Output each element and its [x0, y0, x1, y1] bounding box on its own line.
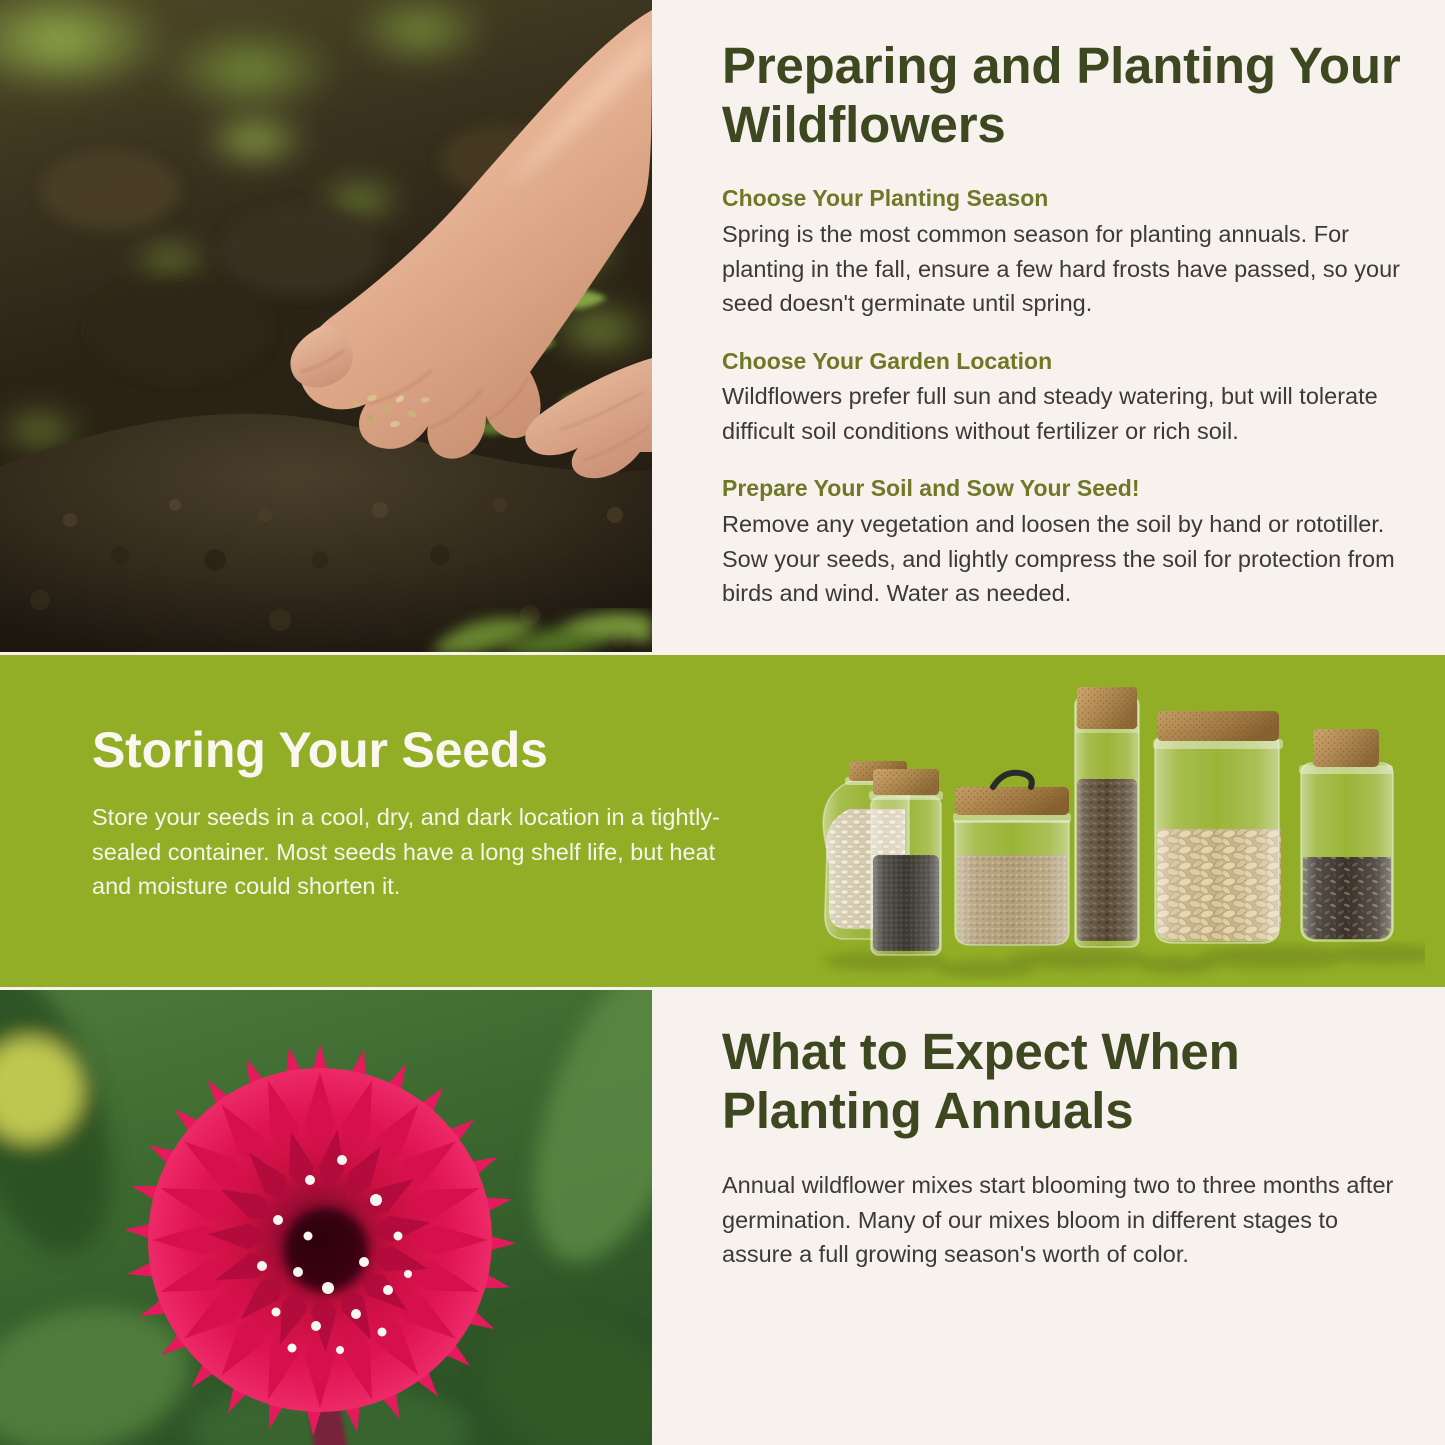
seed-jars-illustration — [805, 669, 1425, 987]
infographic-page: Preparing and Planting Your Wildflowers … — [0, 0, 1445, 1445]
seed-jars-photo — [805, 669, 1425, 987]
section-storing-your-seeds: Storing Your Seeds Store your seeds in a… — [0, 655, 1445, 987]
page-title-preparing: Preparing and Planting Your Wildflowers — [722, 36, 1412, 154]
body-prepare-soil: Remove any vegetation and loosen the soi… — [722, 507, 1412, 611]
body-expect: Annual wildflower mixes start blooming t… — [722, 1168, 1412, 1272]
block-prepare-soil: Prepare Your Soil and Sow Your Seed! Rem… — [722, 474, 1412, 610]
jar-sunflower-seeds — [1299, 729, 1393, 941]
pink-cornflower-photo — [0, 990, 652, 1445]
page-title-expect: What to Expect When Planting Annuals — [722, 1022, 1412, 1140]
preparing-text-column: Preparing and Planting Your Wildflowers … — [722, 36, 1412, 611]
hand-sowing-seeds-illustration — [0, 0, 652, 652]
subheading-garden-location: Choose Your Garden Location — [722, 347, 1412, 376]
block-garden-location: Choose Your Garden Location Wildflowers … — [722, 347, 1412, 449]
jar-dark-seed — [869, 769, 943, 955]
body-garden-location: Wildflowers prefer full sun and steady w… — [722, 379, 1412, 448]
subheading-planting-season: Choose Your Planting Season — [722, 184, 1412, 213]
expect-text-column: What to Expect When Planting Annuals Ann… — [722, 1022, 1412, 1272]
section-what-to-expect: What to Expect When Planting Annuals Ann… — [0, 990, 1445, 1445]
block-planting-season: Choose Your Planting Season Spring is th… — [722, 184, 1412, 320]
storing-text-column: Storing Your Seeds Store your seeds in a… — [92, 723, 732, 904]
subheading-prepare-soil: Prepare Your Soil and Sow Your Seed! — [722, 474, 1412, 503]
page-title-storing: Storing Your Seeds — [92, 723, 732, 778]
hand-sowing-seeds-photo — [0, 0, 652, 652]
jar-pumpkin-seeds — [1153, 711, 1283, 943]
pink-cornflower-illustration — [0, 990, 652, 1445]
jar-tall-brown-seeds — [1075, 687, 1139, 947]
body-storing: Store your seeds in a cool, dry, and dar… — [92, 800, 732, 904]
body-planting-season: Spring is the most common season for pla… — [722, 217, 1412, 321]
section-preparing-and-planting: Preparing and Planting Your Wildflowers … — [0, 0, 1445, 655]
jar-tan-grain — [953, 773, 1071, 945]
